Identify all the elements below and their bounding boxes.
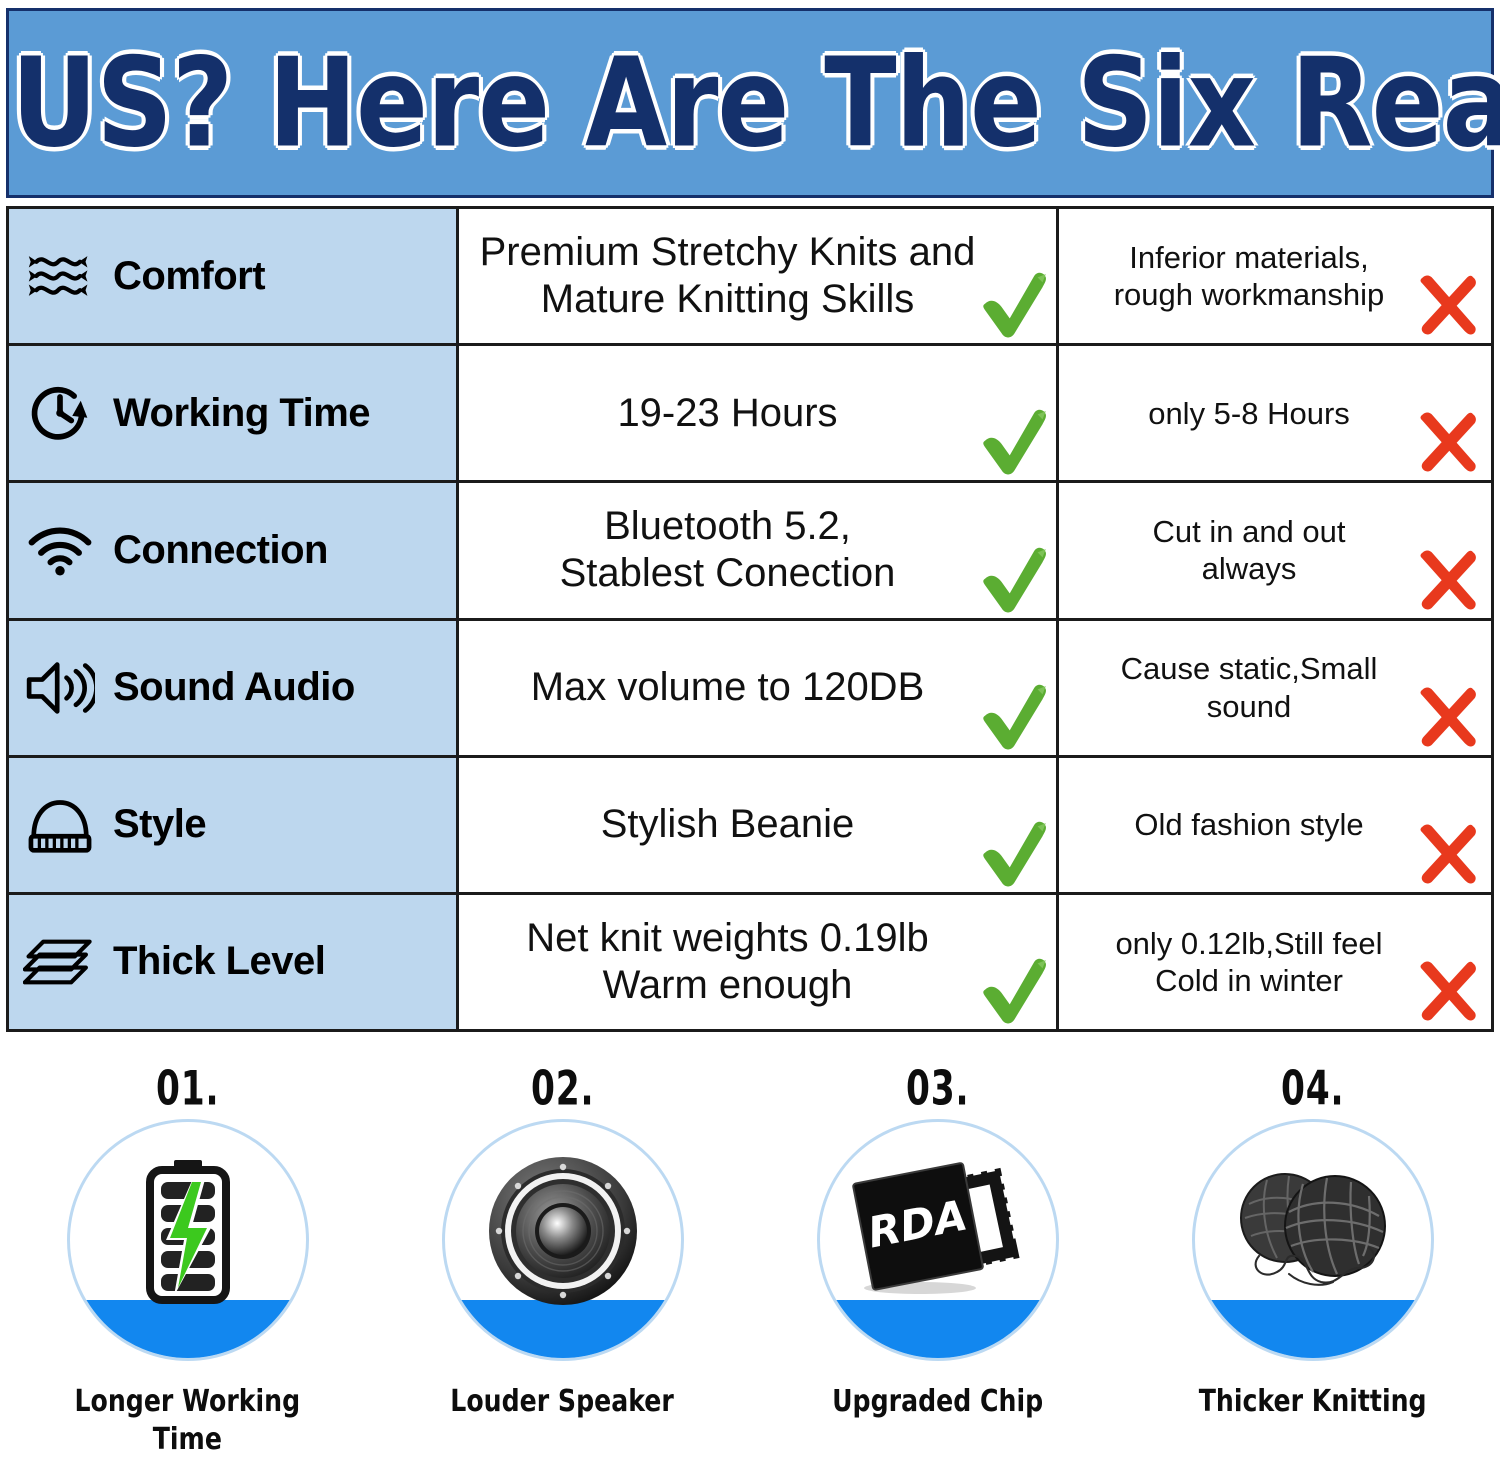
- table-row: Style Stylish Beanie Old fashion style: [9, 758, 1491, 895]
- our-product-text: Stylish Beanie: [477, 801, 978, 848]
- feature-label: Comfort: [113, 254, 265, 299]
- our-product-cell: Premium Stretchy Knits and Mature Knitti…: [459, 209, 1059, 343]
- yarn-balls-icon: [1223, 1156, 1403, 1306]
- others-product-cell: Old fashion style: [1059, 758, 1491, 892]
- feature-number: 03.: [906, 1061, 969, 1116]
- check-mark-icon: [972, 261, 1054, 343]
- circle-bottom-fill: [67, 1300, 309, 1361]
- stretch-waves-icon: [23, 241, 97, 311]
- our-product-text: Max volume to 120DB: [477, 664, 978, 711]
- circle-bottom-fill: [817, 1300, 1059, 1361]
- speaker-driver-icon: [487, 1155, 639, 1307]
- others-product-cell: Cause static,Small sound: [1059, 621, 1491, 755]
- table-row: Sound Audio Max volume to 120DB Cause st…: [9, 621, 1491, 758]
- page-title: Why US? Here Are The Six Reasons: [0, 42, 1500, 165]
- feature-label: Upgraded Chip: [832, 1383, 1043, 1421]
- feature-number: 02.: [531, 1061, 594, 1116]
- table-row: Connection Bluetooth 5.2, Stablest Conec…: [9, 483, 1491, 620]
- feature-number: 01.: [156, 1061, 219, 1116]
- feature-item-thicker-knitting: 04.: [1125, 1040, 1500, 1484]
- layers-icon: [23, 927, 97, 997]
- feature-circle: RDA: [817, 1119, 1059, 1361]
- feature-cell-working-time: Working Time: [9, 346, 459, 480]
- feature-highlights: 01.: [0, 1040, 1500, 1484]
- circle-bottom-fill: [442, 1300, 684, 1361]
- check-mark-icon: [972, 947, 1054, 1029]
- feature-circle: [67, 1119, 309, 1361]
- our-product-text: Bluetooth 5.2, Stablest Conection: [477, 503, 978, 597]
- others-product-cell: Cut in and out always: [1059, 483, 1491, 617]
- feature-label: Thick Level: [113, 939, 325, 984]
- others-product-text: Inferior materials, rough workmanship: [1069, 239, 1429, 313]
- feature-label: Thicker Knitting: [1199, 1383, 1427, 1421]
- our-product-cell: 19-23 Hours: [459, 346, 1059, 480]
- feature-item-longer-working-time: 01.: [0, 1040, 375, 1484]
- table-row: Comfort Premium Stretchy Knits and Matur…: [9, 209, 1491, 346]
- our-product-text: Premium Stretchy Knits and Mature Knitti…: [477, 229, 978, 323]
- others-product-text: Cause static,Small sound: [1069, 650, 1429, 724]
- our-product-cell: Max volume to 120DB: [459, 621, 1059, 755]
- wifi-icon: [23, 515, 97, 585]
- beanie-icon: [23, 790, 97, 860]
- feature-label: Longer Working Time: [75, 1383, 301, 1460]
- feature-circle: [442, 1119, 684, 1361]
- our-product-text: 19-23 Hours: [477, 390, 978, 437]
- feature-item-louder-speaker: 02.: [375, 1040, 750, 1484]
- feature-cell-connection: Connection: [9, 483, 459, 617]
- table-row: Working Time 19-23 Hours only 5-8 Hours: [9, 346, 1491, 483]
- check-mark-icon: [972, 398, 1054, 480]
- feature-cell-thick-level: Thick Level: [9, 895, 459, 1029]
- others-product-text: Cut in and out always: [1069, 513, 1429, 587]
- clock-icon: [23, 378, 97, 448]
- feature-cell-comfort: Comfort: [9, 209, 459, 343]
- check-mark-icon: [972, 810, 1054, 892]
- feature-label: Sound Audio: [113, 665, 355, 710]
- feature-item-upgraded-chip: 03.: [750, 1040, 1125, 1484]
- our-product-cell: Net knit weights 0.19lb Warm enough: [459, 895, 1059, 1029]
- feature-label: Style: [113, 802, 206, 847]
- feature-cell-sound-audio: Sound Audio: [9, 621, 459, 755]
- battery-charging-icon: [128, 1156, 248, 1306]
- others-product-text: only 5-8 Hours: [1069, 395, 1429, 432]
- feature-cell-style: Style: [9, 758, 459, 892]
- our-product-text: Net knit weights 0.19lb Warm enough: [477, 915, 978, 1009]
- others-product-cell: only 5-8 Hours: [1059, 346, 1491, 480]
- page-banner: Why US? Here Are The Six Reasons: [6, 8, 1494, 198]
- feature-label: Louder Speaker: [451, 1383, 675, 1421]
- circle-bottom-fill: [1192, 1300, 1434, 1361]
- comparison-table: Comfort Premium Stretchy Knits and Matur…: [6, 206, 1494, 1032]
- chip-icon: RDA: [848, 1156, 1028, 1306]
- feature-label: Connection: [113, 528, 328, 573]
- table-row: Thick Level Net knit weights 0.19lb Warm…: [9, 895, 1491, 1029]
- check-mark-icon: [972, 536, 1054, 618]
- comparison-infographic: Why US? Here Are The Six Reasons: [0, 0, 1500, 1484]
- feature-label: Working Time: [113, 391, 370, 436]
- others-product-text: only 0.12lb,Still feel Cold in winter: [1069, 925, 1429, 999]
- others-product-cell: Inferior materials, rough workmanship: [1059, 209, 1491, 343]
- speaker-icon: [23, 653, 97, 723]
- others-product-cell: only 0.12lb,Still feel Cold in winter: [1059, 895, 1491, 1029]
- others-product-text: Old fashion style: [1069, 806, 1429, 843]
- our-product-cell: Stylish Beanie: [459, 758, 1059, 892]
- feature-number: 04.: [1281, 1061, 1344, 1116]
- our-product-cell: Bluetooth 5.2, Stablest Conection: [459, 483, 1059, 617]
- feature-circle: [1192, 1119, 1434, 1361]
- check-mark-icon: [972, 673, 1054, 755]
